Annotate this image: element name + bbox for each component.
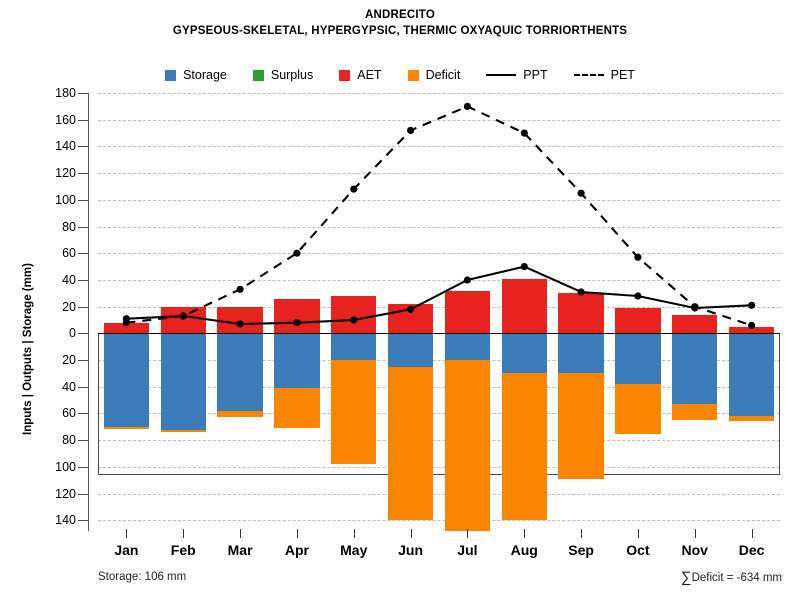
y-tick-mark (78, 494, 88, 495)
y-tick-label: 60 (62, 246, 76, 260)
legend-line-pet-icon (574, 74, 604, 76)
x-tick-mark (126, 529, 127, 538)
y-tick-label: 140 (55, 139, 76, 153)
y-tick-mark (78, 467, 88, 468)
deficit-sum-note: ∑Deficit = -634 mm (681, 569, 782, 586)
y-tick-mark (78, 387, 88, 388)
y-tick-label: 120 (55, 166, 76, 180)
legend-item-aet[interactable]: AET (339, 68, 381, 82)
deficit-sum-text: Deficit = -634 mm (692, 572, 782, 584)
chart-legend: StorageSurplusAETDeficitPPTPET (0, 68, 800, 82)
y-tick-label: 40 (62, 380, 76, 394)
y-tick-label: 20 (62, 300, 76, 314)
y-tick-label: 40 (62, 273, 76, 287)
y-tick-mark (78, 120, 88, 121)
y-tick-mark (78, 333, 88, 334)
x-tick-mark (240, 529, 241, 538)
line-pet (126, 106, 751, 325)
y-tick-mark (78, 173, 88, 174)
x-tick-label-aug: Aug (511, 542, 538, 558)
y-tick-mark (78, 146, 88, 147)
y-axis-ticks: 1801601401201008060402002040608010012014… (0, 0, 98, 600)
y-axis-spine (88, 93, 89, 531)
marker-pet-dec (748, 322, 755, 329)
y-tick-label: 100 (55, 193, 76, 207)
marker-ppt-dec (748, 302, 755, 309)
x-tick-label-oct: Oct (626, 542, 649, 558)
y-tick-label: 140 (55, 513, 76, 527)
legend-item-storage[interactable]: Storage (165, 68, 227, 82)
marker-ppt-jun (407, 306, 414, 313)
y-tick-label: 120 (55, 487, 76, 501)
marker-pet-jun (407, 127, 414, 134)
marker-pet-aug (521, 130, 528, 137)
marker-ppt-jul (464, 276, 471, 283)
y-tick-mark (78, 253, 88, 254)
x-tick-label-nov: Nov (682, 542, 708, 558)
marker-pet-jan (123, 319, 130, 326)
x-tick-label-sep: Sep (568, 542, 594, 558)
marker-ppt-apr (293, 319, 300, 326)
x-tick-mark (581, 529, 582, 538)
legend-swatch-aet (339, 70, 350, 81)
legend-label: AET (357, 68, 381, 82)
legend-swatch-deficit (408, 70, 419, 81)
marker-pet-may (350, 186, 357, 193)
y-tick-mark (78, 360, 88, 361)
legend-swatch-surplus (253, 70, 264, 81)
x-tick-label-apr: Apr (285, 542, 309, 558)
y-tick-mark (78, 200, 88, 201)
y-tick-label: 80 (62, 220, 76, 234)
line-series-layer (98, 93, 780, 531)
storage-capacity-note: Storage: 106 mm (98, 571, 186, 583)
x-tick-label-jan: Jan (114, 542, 138, 558)
marker-pet-mar (237, 286, 244, 293)
chart-title: ANDRECITO GYPSEOUS-SKELETAL, HYPERGYPSIC… (0, 8, 800, 39)
x-tick-label-mar: Mar (228, 542, 253, 558)
x-tick-mark (354, 529, 355, 538)
x-tick-label-feb: Feb (171, 542, 196, 558)
y-tick-mark (78, 307, 88, 308)
legend-item-ppt[interactable]: PPT (486, 68, 547, 82)
marker-pet-apr (293, 250, 300, 257)
x-tick-label-dec: Dec (739, 542, 765, 558)
title-line-2: GYPSEOUS-SKELETAL, HYPERGYPSIC, THERMIC … (0, 23, 800, 39)
title-line-1: ANDRECITO (0, 8, 800, 23)
legend-label: PPT (523, 68, 547, 82)
y-tick-label: 160 (55, 113, 76, 127)
x-tick-mark (411, 529, 412, 538)
marker-pet-oct (634, 254, 641, 261)
marker-ppt-oct (634, 292, 641, 299)
legend-label: Deficit (426, 68, 461, 82)
y-tick-label: 0 (69, 326, 76, 340)
x-tick-mark (524, 529, 525, 538)
y-tick-mark (78, 440, 88, 441)
legend-swatch-storage (165, 70, 176, 81)
marker-pet-jul (464, 103, 471, 110)
marker-pet-feb (180, 312, 187, 319)
marker-pet-nov (691, 303, 698, 310)
legend-label: Surplus (271, 68, 313, 82)
legend-line-ppt-icon (486, 74, 516, 76)
y-tick-mark (78, 93, 88, 94)
legend-label: Storage (183, 68, 227, 82)
legend-item-deficit[interactable]: Deficit (408, 68, 461, 82)
marker-ppt-sep (578, 288, 585, 295)
legend-item-pet[interactable]: PET (574, 68, 635, 82)
y-tick-mark (78, 520, 88, 521)
marker-ppt-may (350, 316, 357, 323)
x-tick-label-may: May (340, 542, 367, 558)
y-tick-mark (78, 280, 88, 281)
y-tick-label: 60 (62, 406, 76, 420)
y-tick-label: 100 (55, 460, 76, 474)
y-tick-mark (78, 413, 88, 414)
sigma-icon: ∑ (681, 569, 692, 586)
marker-pet-sep (578, 190, 585, 197)
x-tick-label-jul: Jul (457, 542, 477, 558)
chart-root: ANDRECITO GYPSEOUS-SKELETAL, HYPERGYPSIC… (0, 0, 800, 600)
y-tick-label: 80 (62, 433, 76, 447)
y-tick-label: 180 (55, 86, 76, 100)
x-tick-mark (638, 529, 639, 538)
y-tick-mark (78, 227, 88, 228)
x-tick-mark (752, 529, 753, 538)
marker-ppt-aug (521, 263, 528, 270)
marker-ppt-mar (237, 320, 244, 327)
x-tick-mark (467, 529, 468, 538)
y-tick-label: 20 (62, 353, 76, 367)
legend-label: PET (611, 68, 635, 82)
x-tick-mark (297, 529, 298, 538)
plot-area (98, 93, 780, 531)
x-tick-label-jun: Jun (398, 542, 423, 558)
x-tick-mark (183, 529, 184, 538)
x-tick-mark (695, 529, 696, 538)
legend-item-surplus[interactable]: Surplus (253, 68, 313, 82)
